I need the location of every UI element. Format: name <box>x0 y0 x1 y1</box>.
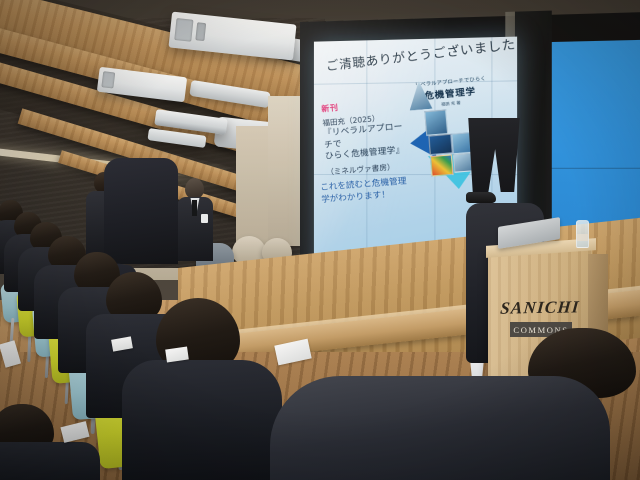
book-cover-photo-tile <box>428 134 453 155</box>
book-cover-photo-tile <box>430 154 454 176</box>
bottle-label <box>577 234 588 241</box>
presenter-legs <box>466 118 522 192</box>
slide-heading: ご清聴ありがとうございました <box>325 37 509 75</box>
slide-book-info-block: 新刊 福田充（2025） 『リベラルアプローチで ひらく危機管理学』 （ミネルヴ… <box>321 96 414 178</box>
wall-column-far <box>236 126 270 246</box>
audience-member-foreground <box>300 352 640 480</box>
student-suit-jacket <box>104 158 178 264</box>
slide-note-block: これを読むと危機管理 学がわかります！ <box>320 175 417 207</box>
hvac-vent <box>195 22 206 41</box>
hvac-grille <box>174 18 193 42</box>
audience-member <box>0 404 110 480</box>
book-cover-photo-tile <box>424 109 448 135</box>
audience-member <box>148 298 268 470</box>
water-bottle <box>576 220 589 248</box>
hvac-grille <box>101 71 115 88</box>
lecture-hall-photo: ご清聴ありがとうございました 新刊 福田充（2025） 『リベラルアプローチで … <box>0 0 640 480</box>
podium-logo-primary: SANICHI <box>497 297 583 318</box>
presenter-shoe <box>466 192 496 203</box>
